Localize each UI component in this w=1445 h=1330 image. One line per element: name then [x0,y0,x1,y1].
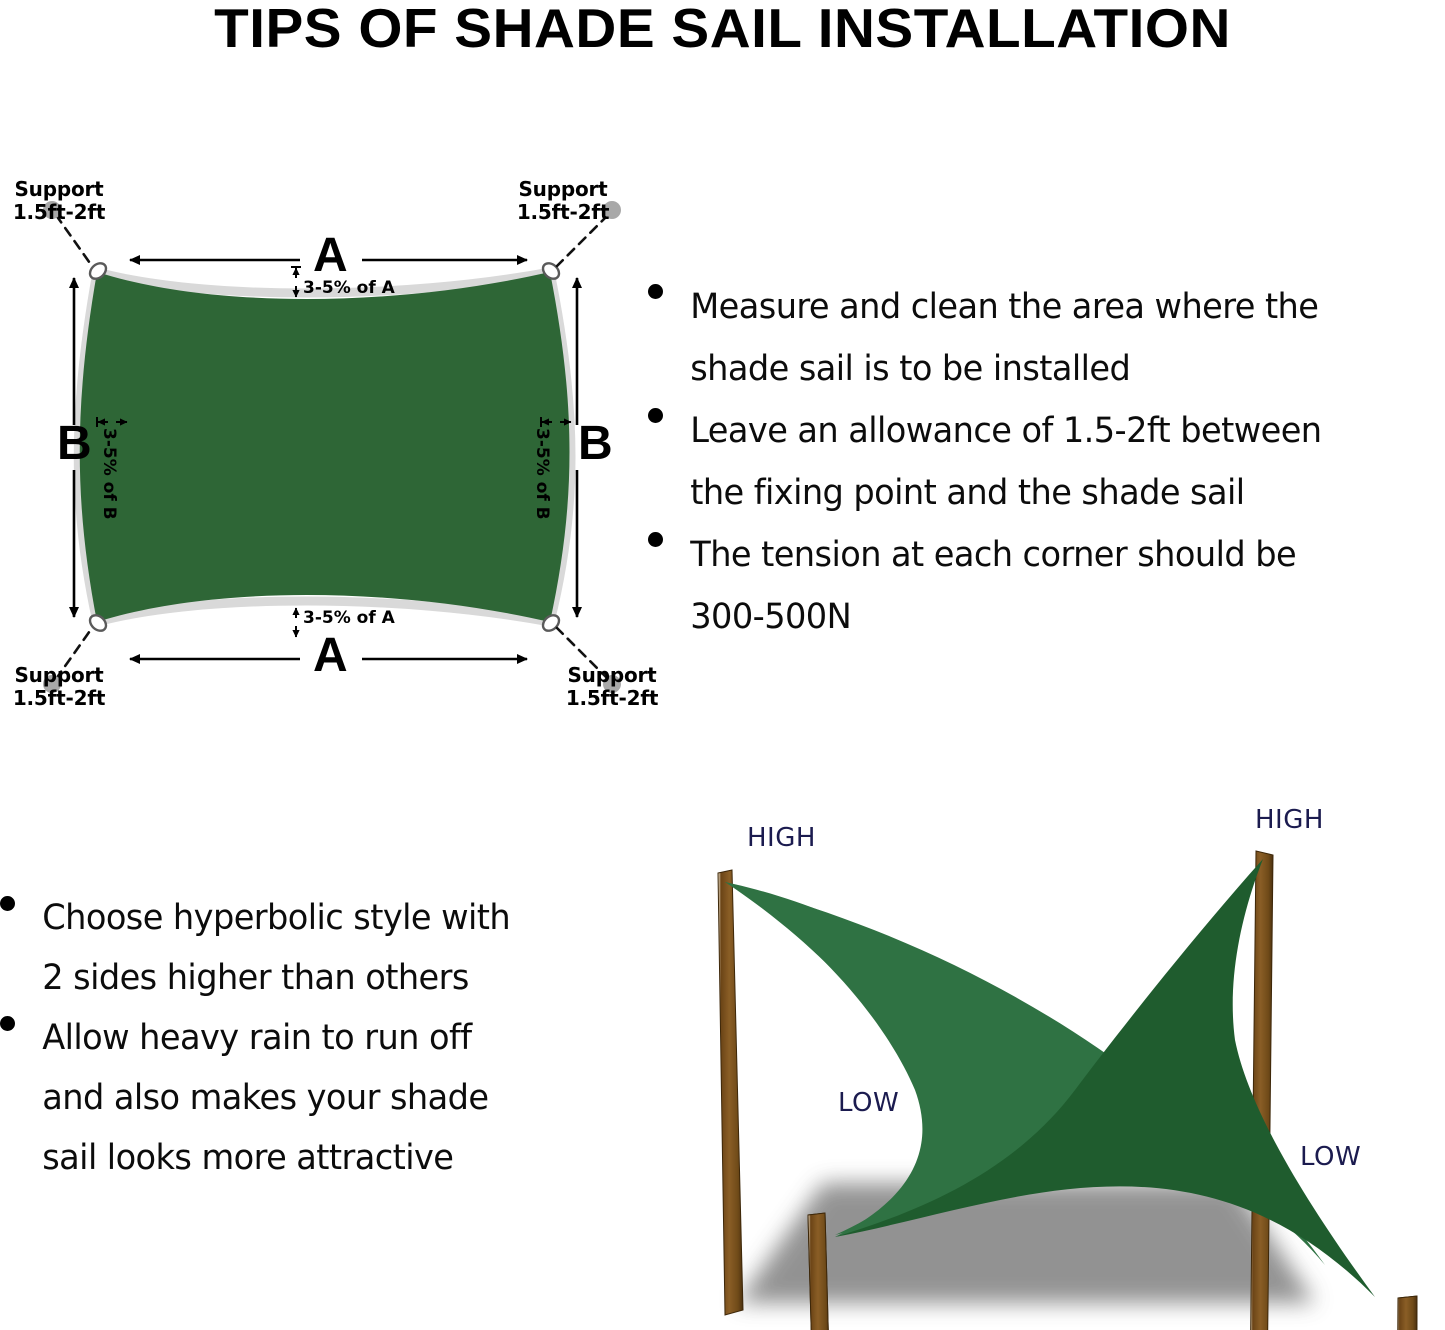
support-posts [718,851,1417,1330]
support-label-top-right: Support 1.5ft-2ft [508,178,618,224]
dimension-letter-bottom-A: A [313,632,348,680]
list-item: Choose hyperbolic style with 2 sides hig… [0,888,620,1008]
list-item: Allow heavy rain to run off and also mak… [0,1008,620,1188]
sag-label-bottom: 3-5% of A [303,610,395,627]
ground-shadow [737,1183,1315,1303]
list-item: The tension at each corner should be 300… [648,524,1445,648]
page-title: TIPS OF SHADE SAIL INSTALLATION [0,0,1445,60]
installation-tips-right-list: Measure and clean the area where the sha… [648,276,1445,648]
label-low-left: LOW [838,1088,899,1118]
support-label-value: 1.5ft-2ft [557,687,667,710]
sag-label-left: 3-5% of B [100,428,117,520]
hyperbolic-sail-fabric [725,859,1375,1297]
tip-line: and also makes your shade [0,1068,595,1128]
tip-line: Choose hyperbolic style with [0,888,595,948]
support-label-bottom-left: Support 1.5ft-2ft [4,664,114,710]
support-label-text: Support [4,664,114,687]
support-label-text: Support [4,178,114,201]
support-posts-front [808,1213,1417,1330]
sag-label-top: 3-5% of A [303,280,395,297]
tip-line: Allow heavy rain to run off [0,1008,595,1068]
support-label-top-left: Support 1.5ft-2ft [4,178,114,224]
tip-line: Measure and clean the area where the [648,276,1416,338]
corner-grommets [87,260,562,634]
sail-hem [78,272,571,622]
support-label-value: 1.5ft-2ft [4,201,114,224]
tip-line: shade sail is to be installed [648,338,1416,400]
tip-line: 300-500N [648,586,1416,648]
support-label-bottom-right: Support 1.5ft-2ft [557,664,667,710]
tip-line: the fixing point and the shade sail [648,462,1416,524]
support-label-text: Support [508,178,618,201]
tip-line: 2 sides higher than others [0,948,595,1008]
hyperbolic-sail-diagram [675,785,1445,1330]
dimension-letter-top-A: A [313,232,348,280]
sag-indicator-top [291,267,301,297]
sail-body [80,272,570,622]
label-high-left: HIGH [747,823,816,853]
dimension-letter-left-B: B [57,420,92,468]
sag-indicator-right [541,417,571,427]
tip-line: The tension at each corner should be [648,524,1416,586]
support-label-text: Support [557,664,667,687]
sag-label-right: 3-5% of B [533,428,550,520]
tip-line: Leave an allowance of 1.5-2ft between [648,400,1416,462]
sag-indicator-left [97,417,127,427]
support-label-value: 1.5ft-2ft [508,201,618,224]
support-label-value: 1.5ft-2ft [4,687,114,710]
infographic-page: TIPS OF SHADE SAIL INSTALLATION [0,0,1445,1319]
list-item: Leave an allowance of 1.5-2ft between th… [648,400,1445,524]
dimension-letter-right-B: B [578,420,613,468]
label-low-right: LOW [1300,1142,1361,1172]
label-high-right: HIGH [1255,805,1324,835]
tip-line: sail looks more attractive [0,1128,595,1188]
installation-tips-left-list: Choose hyperbolic style with 2 sides hig… [0,888,620,1188]
list-item: Measure and clean the area where the sha… [648,276,1445,400]
